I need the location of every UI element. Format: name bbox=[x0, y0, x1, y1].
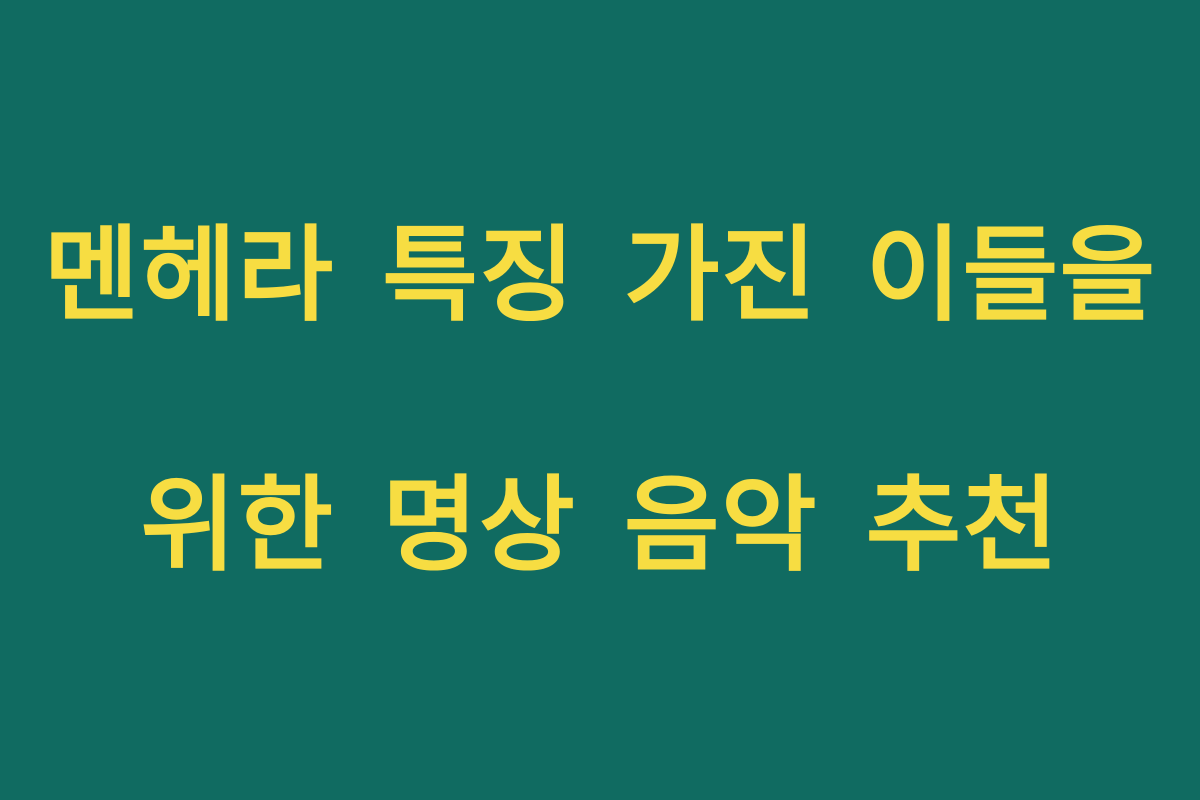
headline-line-1: 멘헤라 특징 가진 이들을 bbox=[40, 213, 1160, 338]
thumbnail-card: 멘헤라 특징 가진 이들을 위한 명상 음악 추천 bbox=[0, 0, 1200, 800]
headline-line-2: 위한 명상 음악 추천 bbox=[40, 463, 1160, 588]
headline-text: 멘헤라 특징 가진 이들을 위한 명상 음악 추천 bbox=[40, 88, 1160, 713]
